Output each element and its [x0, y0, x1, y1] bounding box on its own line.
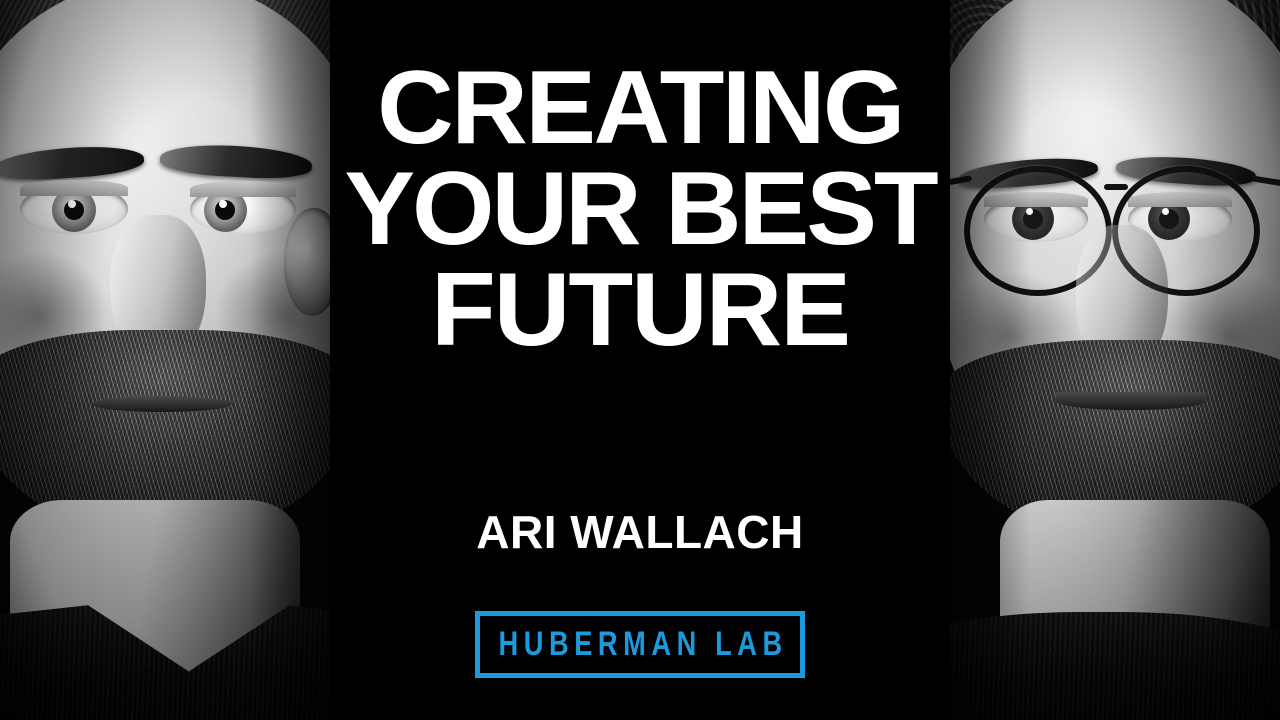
huberman-lab-logo: HUBERMAN LAB	[475, 611, 805, 678]
eye-glint-right	[219, 200, 227, 208]
huberman-lab-logo-text: HUBERMAN LAB	[493, 625, 788, 664]
mouth-smiling	[1056, 392, 1206, 410]
center-text-panel: CREATING YOUR BEST FUTURE ARI WALLACH HU…	[330, 0, 950, 720]
eyeglasses-bridge	[1104, 184, 1128, 190]
title-line-3: FUTURE	[305, 260, 974, 361]
eye-glint-left	[68, 200, 76, 208]
episode-title: CREATING YOUR BEST FUTURE	[312, 58, 968, 361]
title-line-2: YOUR BEST	[305, 159, 974, 260]
video-thumbnail: CREATING YOUR BEST FUTURE ARI WALLACH HU…	[0, 0, 1280, 720]
title-line-1: CREATING	[305, 58, 974, 159]
mouth	[92, 396, 232, 412]
guest-name: ARI WALLACH	[330, 505, 950, 559]
eyelid-left	[20, 180, 128, 196]
